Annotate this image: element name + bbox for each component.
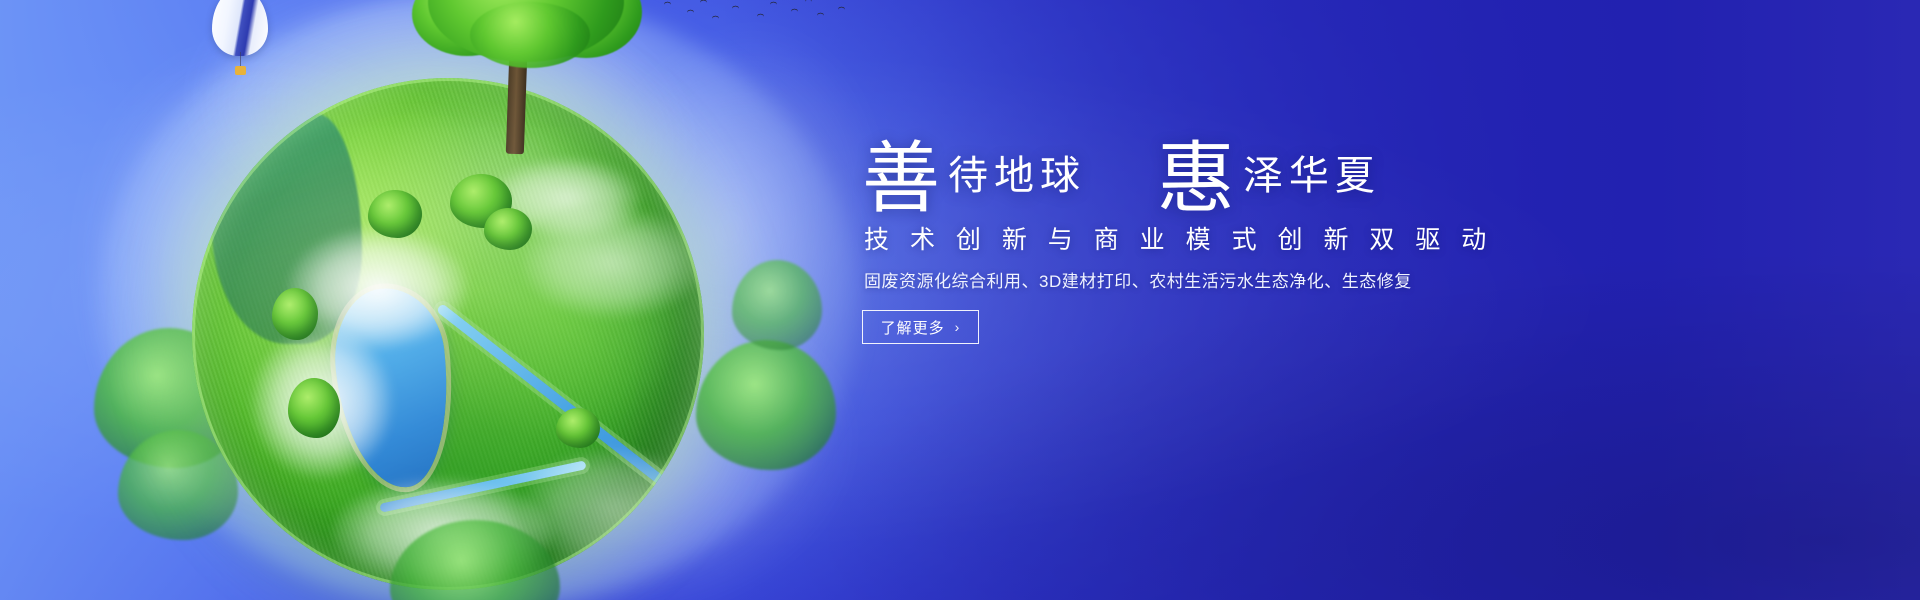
headline-part-two: 惠泽华夏	[1157, 140, 1381, 218]
page-description: 固废资源化综合利用、3D建材打印、农村生活污水生态净化、生态修复	[864, 270, 1412, 294]
page-subtitle: 技 术 创 新 与 商 业 模 式 创 新 双 驱 动	[864, 228, 1493, 253]
page-title: 善待地球 惠泽华夏	[862, 140, 1381, 218]
chevron-right-icon: ›	[955, 320, 961, 334]
headline-chars-small: 泽华夏	[1243, 153, 1381, 198]
hero-content: 善待地球 惠泽华夏 技 术 创 新 与 商 业 模 式 创 新 双 驱 动 固废…	[862, 0, 1762, 600]
learn-more-button[interactable]: 了解更多 ›	[862, 310, 979, 344]
headline-char-large: 善	[862, 135, 940, 222]
headline-char-large: 惠	[1157, 135, 1235, 222]
hero-banner: 善待地球 惠泽华夏 技 术 创 新 与 商 业 模 式 创 新 双 驱 动 固废…	[0, 0, 1920, 600]
headline-part-one: 善待地球	[862, 140, 1086, 218]
learn-more-label: 了解更多	[881, 317, 945, 338]
headline-chars-small: 待地球	[948, 153, 1086, 198]
